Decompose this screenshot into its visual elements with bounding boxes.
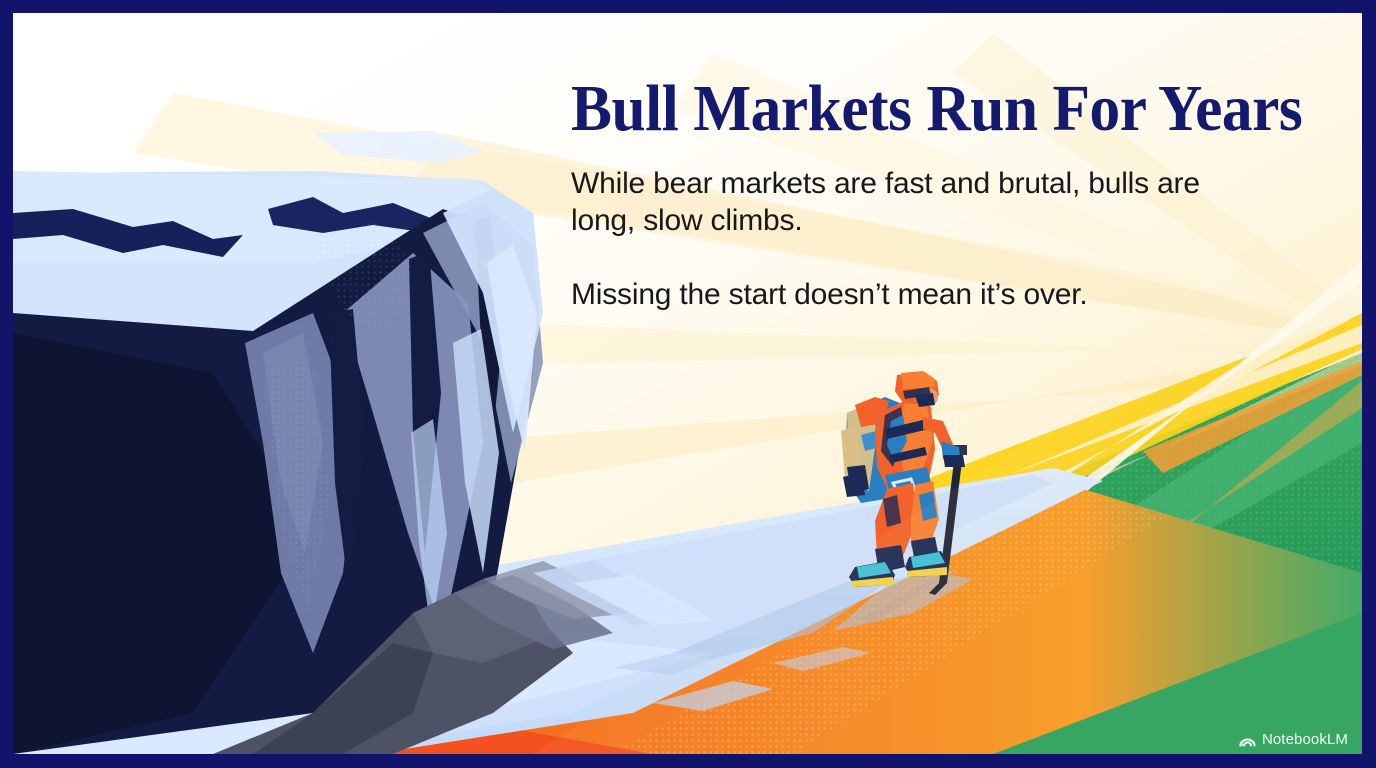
slide-canvas: Bull Markets Run For Years While bear ma… [13, 13, 1362, 754]
body-paragraph-2: Missing the start doesn’t mean it’s over… [571, 277, 1231, 314]
slide-frame: Bull Markets Run For Years While bear ma… [0, 0, 1376, 768]
text-content-block: Bull Markets Run For Years While bear ma… [571, 75, 1311, 314]
body-paragraph-1: While bear markets are fast and brutal, … [571, 166, 1221, 240]
notebooklm-spiral-icon [1239, 732, 1256, 747]
page-title: Bull Markets Run For Years [571, 75, 1259, 144]
notebooklm-watermark: NotebookLM [1239, 731, 1348, 748]
watermark-label: NotebookLM [1262, 731, 1348, 748]
